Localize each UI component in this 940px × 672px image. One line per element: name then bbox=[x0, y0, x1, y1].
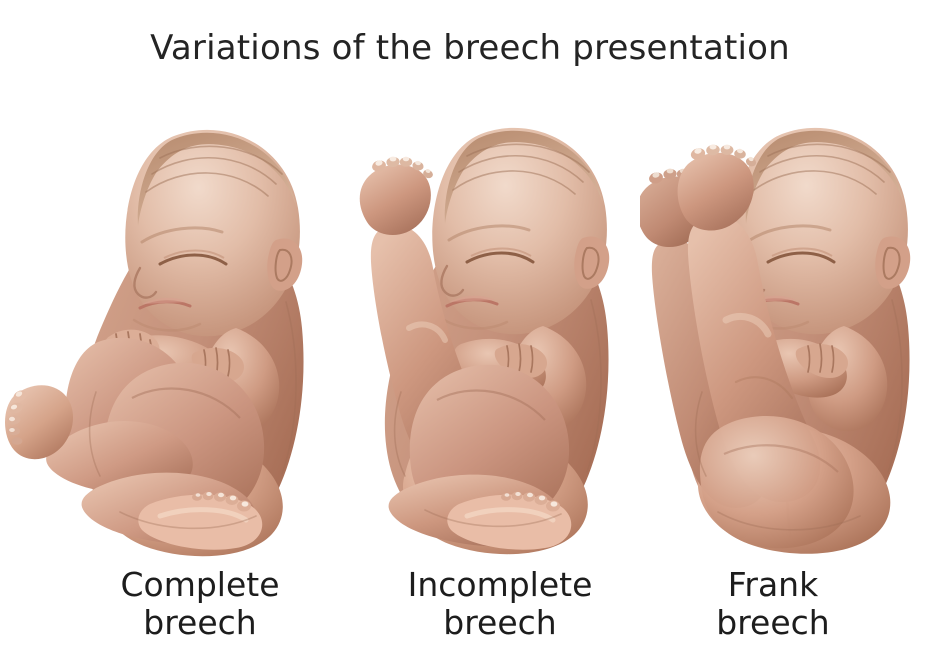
complete-breech-illustration bbox=[0, 92, 330, 562]
caption-line-1: Frank bbox=[648, 566, 898, 604]
caption-line-1: Complete bbox=[45, 566, 355, 604]
frank-breech-illustration bbox=[640, 92, 940, 562]
figure-incomplete-breech bbox=[335, 92, 635, 562]
ear bbox=[574, 236, 609, 288]
ear bbox=[875, 236, 910, 288]
figure-captions: Complete breech Incomplete breech Frank … bbox=[0, 566, 940, 666]
incomplete-breech-illustration bbox=[335, 92, 635, 562]
caption-line-1: Incomplete bbox=[345, 566, 655, 604]
caption-line-2: breech bbox=[648, 604, 898, 642]
illustration-page: Variations of the breech presentation bbox=[0, 0, 940, 672]
ear bbox=[267, 238, 302, 290]
caption-incomplete-breech: Incomplete breech bbox=[345, 566, 655, 642]
figure-panels bbox=[0, 92, 940, 562]
caption-complete-breech: Complete breech bbox=[45, 566, 355, 642]
page-title: Variations of the breech presentation bbox=[0, 26, 940, 70]
caption-frank-breech: Frank breech bbox=[648, 566, 898, 642]
foot-extended bbox=[360, 164, 431, 235]
figure-complete-breech bbox=[0, 92, 330, 562]
figure-frank-breech bbox=[640, 92, 940, 562]
caption-line-2: breech bbox=[345, 604, 655, 642]
caption-line-2: breech bbox=[45, 604, 355, 642]
